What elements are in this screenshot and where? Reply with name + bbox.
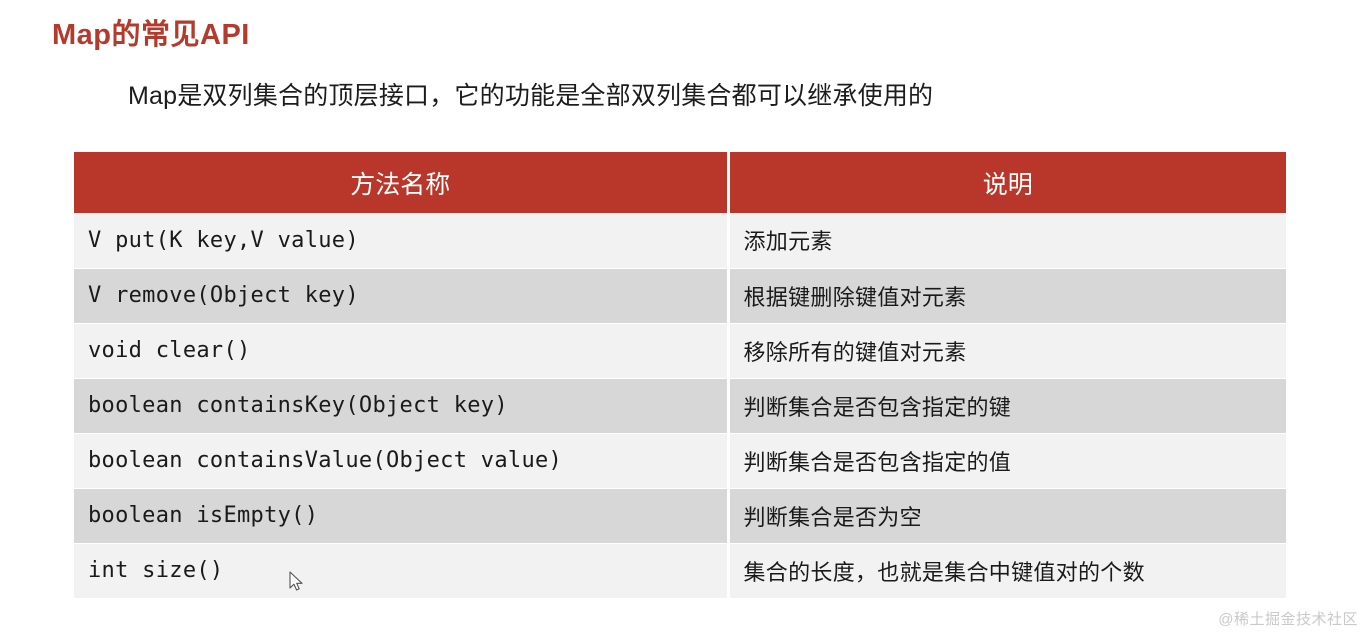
table-body: V put(K key,V value)添加元素V remove(Object …: [74, 213, 1286, 598]
table-row: V put(K key,V value)添加元素: [74, 213, 1286, 268]
table-row: boolean isEmpty()判断集合是否为空: [74, 488, 1286, 543]
cell-description: 判断集合是否包含指定的值: [728, 433, 1286, 488]
column-header-method: 方法名称: [74, 152, 728, 213]
table-row: boolean containsKey(Object key)判断集合是否包含指…: [74, 378, 1286, 433]
cell-method-name: void clear(): [74, 323, 728, 378]
table-row: void clear()移除所有的键值对元素: [74, 323, 1286, 378]
cell-description: 根据键删除键值对元素: [728, 268, 1286, 323]
slide-subtitle: Map是双列集合的顶层接口，它的功能是全部双列集合都可以继承使用的: [128, 76, 933, 112]
table-header-row: 方法名称 说明: [74, 152, 1286, 213]
table-row: int size()集合的长度，也就是集合中键值对的个数: [74, 543, 1286, 598]
column-header-description: 说明: [728, 152, 1286, 213]
cell-description: 移除所有的键值对元素: [728, 323, 1286, 378]
cell-description: 添加元素: [728, 213, 1286, 268]
table-header: 方法名称 说明: [74, 152, 1286, 213]
watermark-label: @稀土掘金技术社区: [1218, 608, 1358, 629]
cell-method-name: V put(K key,V value): [74, 213, 728, 268]
cell-method-name: int size(): [74, 543, 728, 598]
slide-canvas: Map的常见API Map是双列集合的顶层接口，它的功能是全部双列集合都可以继承…: [0, 0, 1372, 636]
cell-description: 集合的长度，也就是集合中键值对的个数: [728, 543, 1286, 598]
cell-method-name: boolean containsKey(Object key): [74, 378, 728, 433]
table-row: boolean containsValue(Object value)判断集合是…: [74, 433, 1286, 488]
cell-description: 判断集合是否包含指定的键: [728, 378, 1286, 433]
cell-method-name: V remove(Object key): [74, 268, 728, 323]
page-title: Map的常见API: [52, 11, 250, 53]
cell-method-name: boolean isEmpty(): [74, 488, 728, 543]
map-api-table: 方法名称 说明 V put(K key,V value)添加元素V remove…: [74, 152, 1286, 598]
table-row: V remove(Object key)根据键删除键值对元素: [74, 268, 1286, 323]
cell-description: 判断集合是否为空: [728, 488, 1286, 543]
cell-method-name: boolean containsValue(Object value): [74, 433, 728, 488]
